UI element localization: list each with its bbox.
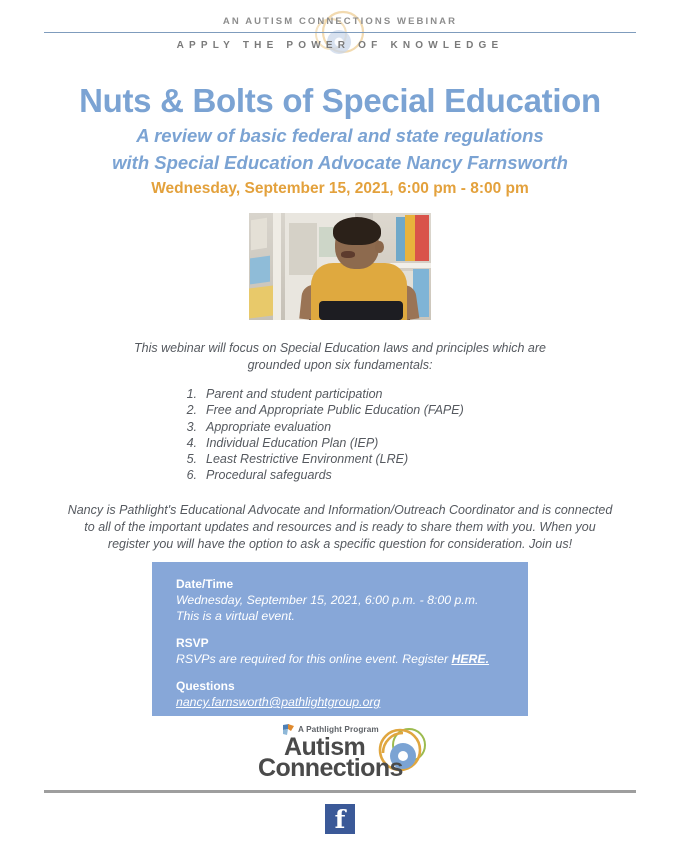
list-item-number: 1. [175,386,206,402]
list-item-number: 2. [175,402,206,418]
event-photo [249,213,431,320]
facebook-icon[interactable]: f [325,804,355,834]
list-item-label: Appropriate evaluation [206,419,331,435]
register-here-link[interactable]: HERE. [451,652,489,666]
presenter-bio: Nancy is Pathlight's Educational Advocat… [62,502,618,553]
questions-email-row: nancy.farnsworth@pathlightgroup.org [176,694,528,710]
datetime-heading: Date/Time [176,576,528,592]
questions-group: Questions nancy.farnsworth@pathlightgrou… [176,678,528,710]
footer: A Pathlight Program Autism Connections f [0,722,680,784]
header-tagline: APPLY THE POWER OF KNOWLEDGE [0,39,680,52]
datetime-group: Date/Time Wednesday, September 15, 2021,… [176,576,528,624]
list-item-label: Individual Education Plan (IEP) [206,435,378,451]
list-item-label: Free and Appropriate Public Education (F… [206,402,464,418]
datetime-line-2: This is a virtual event. [176,608,528,624]
list-item-number: 3. [175,419,206,435]
page-title: Nuts & Bolts of Special Education [0,82,680,120]
header-divider [44,32,636,33]
list-item: 4. Individual Education Plan (IEP) [175,435,505,451]
list-item-label: Procedural safeguards [206,467,332,483]
list-item: 1. Parent and student participation [175,386,505,402]
datetime-line-1: Wednesday, September 15, 2021, 6:00 p.m.… [176,592,528,608]
event-date-line: Wednesday, September 15, 2021, 6:00 pm -… [0,179,680,199]
facebook-f-glyph: f [335,807,346,833]
header: AN AUTISM CONNECTIONS WEBINAR APPLY THE … [0,0,680,52]
contact-email-link[interactable]: nancy.farnsworth@pathlightgroup.org [176,695,380,709]
header-eyebrow: AN AUTISM CONNECTIONS WEBINAR [0,16,680,28]
list-item-number: 6. [175,467,206,483]
flyer-page: AN AUTISM CONNECTIONS WEBINAR APPLY THE … [0,0,680,856]
rsvp-text: RSVPs are required for this online event… [176,651,528,667]
list-item-number: 5. [175,451,206,467]
rsvp-heading: RSVP [176,635,528,651]
event-details-box: Date/Time Wednesday, September 15, 2021,… [152,562,528,716]
list-item-label: Least Restrictive Environment (LRE) [206,451,408,467]
list-item: 5. Least Restrictive Environment (LRE) [175,451,505,467]
list-item-number: 4. [175,435,206,451]
photo-image [249,213,431,320]
rsvp-group: RSVP RSVPs are required for this online … [176,635,528,667]
list-item: 2. Free and Appropriate Public Education… [175,402,505,418]
autism-connections-logo: A Pathlight Program Autism Connections [240,722,440,784]
questions-heading: Questions [176,678,528,694]
list-item-label: Parent and student participation [206,386,383,402]
intro-paragraph: This webinar will focus on Special Educa… [125,340,555,373]
list-item: 6. Procedural safeguards [175,467,505,483]
list-item: 3. Appropriate evaluation [175,419,505,435]
rsvp-sentence: RSVPs are required for this online event… [176,652,451,666]
subtitle-line-1: A review of basic federal and state regu… [0,124,680,147]
logo-word-connections: Connections [258,755,403,781]
title-block: Nuts & Bolts of Special Education A revi… [0,82,680,199]
subtitle-line-2: with Special Education Advocate Nancy Fa… [0,151,680,174]
fundamentals-list: 1. Parent and student participation 2. F… [175,386,505,484]
footer-divider [44,790,636,793]
